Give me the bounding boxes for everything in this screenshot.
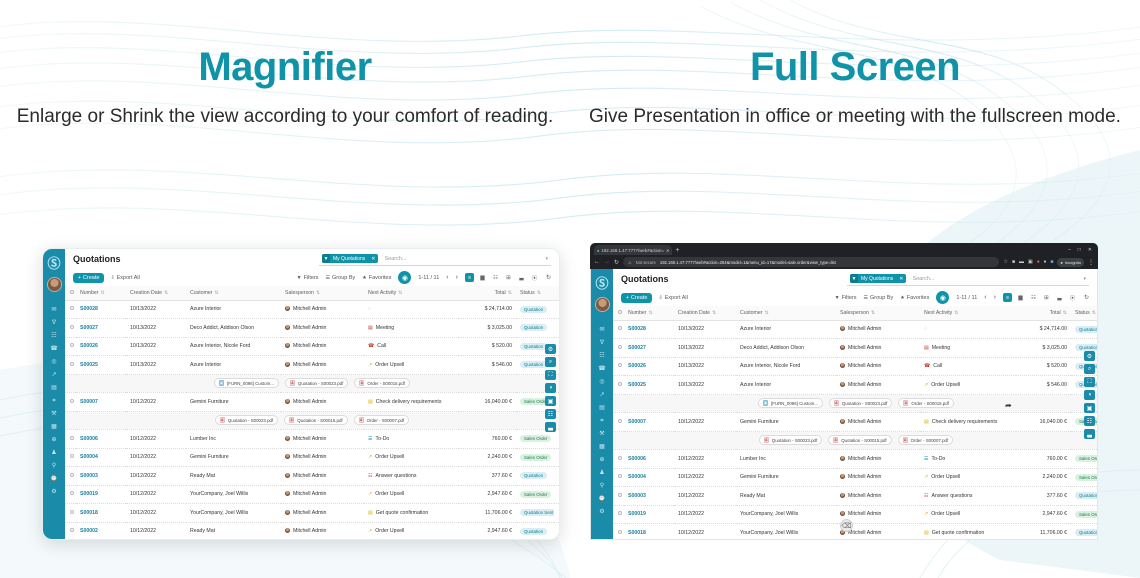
- extension-icon-6[interactable]: ■: [1050, 259, 1053, 265]
- cell-total: $ 546.00: [1016, 376, 1071, 395]
- forward-arrow-icon[interactable]: →: [604, 259, 610, 265]
- favorites-button[interactable]: ★ Favorites: [900, 295, 929, 301]
- cell-next-activity[interactable]: ☎Call: [920, 357, 1016, 376]
- row-select-cell[interactable]: [613, 487, 624, 506]
- table-row[interactable]: S0001810/12/2022YourCompany, Joel Willis…: [613, 524, 1097, 540]
- rail-theme-icon[interactable]: ◑: [545, 383, 556, 393]
- calendar-icon[interactable]: ☷: [50, 332, 59, 339]
- row-select-cell[interactable]: [613, 376, 624, 395]
- cell-customer-value: Gemini Furniture: [190, 454, 229, 460]
- cell-total: 760.00 €: [1016, 450, 1071, 469]
- row-checkbox[interactable]: [70, 399, 74, 403]
- column-header-creation-date[interactable]: Creation Date⇅: [674, 306, 736, 320]
- row-select-cell[interactable]: [65, 393, 76, 412]
- table-scroll-laptop[interactable]: Number⇅Creation Date⇅Customer⇅Salesperso…: [613, 306, 1097, 539]
- status-badge: Sales Order: [1075, 474, 1097, 481]
- row-select-cell[interactable]: [65, 430, 76, 449]
- cell-salesperson: Mitchell Admin: [281, 430, 364, 449]
- cell-next-activity[interactable]: ☷Answer questions: [364, 467, 459, 486]
- reload-icon[interactable]: ↻: [614, 259, 619, 266]
- manufacturing-icon[interactable]: ⚒: [50, 410, 59, 417]
- crm-icon[interactable]: ◎: [50, 358, 59, 365]
- select-all-checkbox[interactable]: [70, 290, 74, 294]
- pager-prev-button[interactable]: ‹: [984, 294, 986, 301]
- cell-next-activity[interactable]: ○: [364, 300, 459, 319]
- bookmark-star-icon[interactable]: ☆: [1003, 259, 1007, 265]
- column-header-customer[interactable]: Customer⇅: [736, 306, 836, 320]
- create-button[interactable]: + Create: [621, 293, 652, 303]
- row-checkbox[interactable]: [618, 530, 622, 534]
- row-checkbox[interactable]: [618, 345, 622, 349]
- row-select-cell[interactable]: [613, 505, 624, 524]
- window-close-button[interactable]: ✕: [1088, 247, 1092, 253]
- cell-next-activity[interactable]: ☰To-Do: [920, 450, 1016, 469]
- sort-indicator-icon[interactable]: ⇅: [1092, 310, 1096, 316]
- rail-magnifier-icon[interactable]: ⌕: [545, 357, 556, 367]
- sort-indicator-icon[interactable]: ⇅: [765, 310, 769, 316]
- attachment-chip[interactable]: AQuotation - S00023.pdf: [829, 398, 892, 408]
- table-row[interactable]: S0000710/12/2022Gemini FurnitureMitchell…: [65, 393, 559, 412]
- cell-next-activity[interactable]: ▤Get quote confirmation: [364, 504, 459, 523]
- filter-icon[interactable]: ∇: [50, 319, 59, 326]
- cell-total-value: $ 546.00: [1047, 382, 1067, 388]
- cell-next-activity[interactable]: ↗Order Upsell: [920, 376, 1016, 395]
- row-select-cell[interactable]: [65, 319, 76, 338]
- contacts-icon[interactable]: ☎: [598, 365, 607, 372]
- extension-icon-5[interactable]: ♦: [1044, 259, 1047, 265]
- export-all-button[interactable]: ⇩ Export All: [658, 295, 687, 301]
- row-checkbox[interactable]: [618, 456, 622, 460]
- discuss-icon[interactable]: ✉: [598, 326, 607, 333]
- row-select-cell[interactable]: [613, 468, 624, 487]
- refresh-icon[interactable]: ↻: [1084, 294, 1089, 301]
- contacts-icon[interactable]: ☎: [50, 345, 59, 352]
- rail-chart-icon[interactable]: ▃: [1084, 429, 1095, 439]
- cell-number-value: S00026: [80, 343, 98, 349]
- sort-indicator-icon[interactable]: ⇅: [215, 290, 219, 296]
- rail-chart-icon[interactable]: ▃: [545, 422, 556, 432]
- sort-indicator-icon[interactable]: ⇅: [648, 310, 652, 316]
- sort-indicator-icon[interactable]: ⇅: [871, 310, 875, 316]
- invoicing-icon[interactable]: ▤: [50, 384, 59, 391]
- activity-empty-icon: ○: [368, 306, 371, 312]
- search-input[interactable]: Search...: [384, 256, 545, 262]
- calendar-view-button[interactable]: ☷: [1029, 293, 1038, 302]
- row-checkbox[interactable]: [70, 343, 74, 347]
- user-avatar[interactable]: [47, 277, 62, 292]
- table-row[interactable]: S0002510/13/2022Azure InteriorMitchell A…: [613, 376, 1097, 395]
- cell-next-activity[interactable]: ↗Order Upsell: [364, 522, 459, 539]
- purchase-icon[interactable]: ▦: [598, 443, 607, 450]
- select-all-header[interactable]: [613, 306, 624, 320]
- search-facet-remove[interactable]: ✕: [368, 256, 378, 262]
- attachment-chip[interactable]: AQuotation - S00023.pdf: [759, 435, 822, 445]
- cell-next-activity[interactable]: ↗Order Upsell: [364, 485, 459, 504]
- pager-label: 1-11 / 11: [956, 295, 977, 301]
- attachment-chip[interactable]: AQuotation - S00015.pdf: [284, 415, 347, 425]
- table-row[interactable]: S0002510/13/2022Azure InteriorMitchell A…: [65, 356, 559, 375]
- rail-settings-icon[interactable]: ⚙: [1084, 351, 1095, 361]
- search-box[interactable]: ▼ My Quotations ✕ Search... ▾: [847, 273, 1089, 286]
- cell-next-activity[interactable]: ▤Check delivery requirements: [920, 413, 1016, 432]
- cell-spacer: [554, 430, 559, 449]
- purchase-icon[interactable]: ▦: [50, 423, 59, 430]
- row-select-cell[interactable]: [65, 300, 76, 319]
- search-facet-remove[interactable]: ✕: [896, 276, 906, 282]
- sort-indicator-icon[interactable]: ⇅: [316, 290, 320, 296]
- pager-next-button[interactable]: ›: [994, 294, 996, 301]
- attachment-chip[interactable]: AQuotation - S00015.pdf: [828, 435, 891, 445]
- salesperson-avatar: [285, 362, 290, 367]
- chevron-down-icon[interactable]: ▾: [545, 256, 548, 262]
- pdf-file-icon: A: [289, 417, 294, 423]
- row-checkbox[interactable]: [618, 363, 622, 367]
- cell-customer: Ready Mat: [736, 487, 836, 506]
- cell-status: Quotation: [516, 319, 554, 338]
- back-arrow-icon[interactable]: ←: [594, 259, 600, 265]
- cell-creation-date-value: 10/12/2022: [130, 473, 156, 479]
- column-header-next-activity[interactable]: Next Activity⇅: [920, 306, 1016, 320]
- row-checkbox[interactable]: [618, 493, 622, 497]
- calendar-view-button[interactable]: ☷: [491, 273, 500, 282]
- cell-status: Quotation Sent: [516, 504, 554, 523]
- column-header-salesperson[interactable]: Salesperson⇅: [281, 286, 364, 300]
- column-header-number[interactable]: Number⇅: [624, 306, 674, 320]
- rail-save-icon[interactable]: ▣: [1084, 403, 1095, 413]
- cell-customer-value: YourCompany, Joel Willis: [740, 511, 798, 517]
- sort-indicator-icon[interactable]: ⇅: [1063, 310, 1067, 316]
- sort-indicator-icon[interactable]: ⇅: [398, 290, 402, 296]
- create-button[interactable]: + Create: [73, 273, 104, 283]
- inventory-icon[interactable]: ⌗: [50, 397, 59, 404]
- table-row[interactable]: S0000610/12/2022Lumber IncMitchell Admin…: [613, 450, 1097, 469]
- cell-number: S00027: [624, 339, 674, 358]
- search-input[interactable]: Search...: [912, 276, 1083, 282]
- cell-total-value: 2,947.60 €: [487, 491, 512, 497]
- attachment-chip[interactable]: AOrder - S00015.pdf: [898, 398, 954, 408]
- cell-total-value: 16,040.00 €: [1040, 419, 1067, 425]
- employees-icon[interactable]: ♟: [598, 469, 607, 476]
- row-checkbox[interactable]: [618, 511, 622, 515]
- row-select-cell[interactable]: [65, 337, 76, 356]
- laptop-device-right: ● 192.168.1.47:7777/web#action= ✕ + – □ …: [590, 243, 1098, 540]
- cell-customer-value: Azure Interior: [190, 306, 221, 312]
- funnel-icon: ▼: [297, 275, 302, 281]
- group-by-button[interactable]: ☰ Group By: [326, 275, 356, 281]
- cell-number: S00004: [624, 468, 674, 487]
- column-header-total[interactable]: Total⇅: [1016, 306, 1071, 320]
- salesperson-avatar: [840, 474, 845, 479]
- sales-icon[interactable]: ↗: [50, 371, 59, 378]
- cell-number: S00006: [624, 450, 674, 469]
- row-checkbox[interactable]: [70, 491, 74, 495]
- rail-save-icon[interactable]: ▣: [545, 396, 556, 406]
- magnifier-icon[interactable]: ◉: [936, 291, 949, 304]
- search-box[interactable]: ▼ My Quotations ✕ Search... ▾: [319, 253, 551, 266]
- cell-next-activity[interactable]: ○: [920, 320, 1016, 339]
- table-row[interactable]: S0001910/12/2022YourCompany, Joel Willis…: [613, 505, 1097, 524]
- rail-theme-icon[interactable]: ◑: [1084, 390, 1095, 400]
- graph-view-button[interactable]: ▃: [1055, 293, 1064, 302]
- sort-indicator-icon[interactable]: ⇅: [537, 290, 541, 296]
- table-row[interactable]: S0002610/13/2022Azure Interior, Nicole F…: [613, 357, 1097, 376]
- app-sidebar-tablet: Ⓢ ✉∇☷☎◎↗▤⌗⚒▦⊕♟⚲⌚⚙: [43, 249, 65, 539]
- graph-view-button[interactable]: ▃: [517, 273, 526, 282]
- refresh-icon[interactable]: ↻: [546, 274, 551, 281]
- row-select-cell[interactable]: [65, 448, 76, 467]
- cell-next-activity[interactable]: ▤Check delivery requirements: [364, 393, 459, 412]
- row-checkbox[interactable]: [618, 474, 622, 478]
- table-row[interactable]: S0000210/12/2022Ready MatMitchell Admin↗…: [65, 522, 559, 539]
- manufacturing-icon[interactable]: ⚒: [598, 430, 607, 437]
- close-icon[interactable]: ✕: [666, 248, 669, 253]
- cell-creation-date-value: 10/13/2022: [130, 306, 156, 312]
- cell-next-activity[interactable]: ▤Meeting: [364, 319, 459, 338]
- invoicing-icon[interactable]: ▤: [598, 404, 607, 411]
- row-select-cell[interactable]: [65, 504, 76, 523]
- cell-next-activity[interactable]: ↗Order Upsell: [364, 356, 459, 375]
- calendar-icon[interactable]: ☷: [598, 352, 607, 359]
- cell-status: Quotation: [516, 300, 554, 319]
- website-icon[interactable]: ⊕: [50, 436, 59, 443]
- cell-total: 2,947.60 €: [459, 522, 516, 539]
- chevron-down-icon[interactable]: ▾: [1083, 276, 1086, 282]
- rail-fullscreen-icon[interactable]: ⛶: [545, 370, 556, 380]
- cell-next-activity-value: Order Upsell: [931, 511, 960, 517]
- group-by-button[interactable]: ☰ Group By: [864, 295, 894, 301]
- table-row[interactable]: S0000610/12/2022Lumber IncMitchell Admin…: [65, 430, 559, 449]
- salesperson-avatar: [285, 399, 290, 404]
- filter-icon[interactable]: ∇: [598, 339, 607, 346]
- column-header-customer[interactable]: Customer⇅: [186, 286, 281, 300]
- row-checkbox[interactable]: [70, 454, 74, 458]
- browser-tabstrip: ● 192.168.1.47:7777/web#action= ✕ + – □ …: [590, 243, 1098, 255]
- cell-total: 2,240.00 €: [1016, 468, 1071, 487]
- row-select-cell[interactable]: [65, 522, 76, 539]
- pdf-file-icon: A: [903, 437, 908, 443]
- sidebar-icon-list-laptop: ✉∇☷☎◎↗▤⌗⚒▦⊕♟⚲⌚⚙: [598, 326, 607, 515]
- rail-settings-icon[interactable]: ⚙: [545, 344, 556, 354]
- pivot-view-button[interactable]: ⊞: [1042, 293, 1051, 302]
- row-checkbox[interactable]: [618, 419, 622, 423]
- search-facet[interactable]: ▼ My Quotations ✕: [850, 274, 906, 283]
- table-row[interactable]: S0002610/13/2022Azure Interior, Nicole F…: [65, 337, 559, 356]
- user-avatar[interactable]: [595, 297, 610, 312]
- cell-next-activity[interactable]: ▤Get quote confirmation: [920, 524, 1016, 540]
- sort-indicator-icon[interactable]: ⇅: [508, 290, 512, 296]
- cell-total: 760.00 €: [459, 430, 516, 449]
- rail-list-icon[interactable]: ☷: [1084, 416, 1095, 426]
- activity-view-button[interactable]: ⦿: [1068, 293, 1077, 302]
- optional-columns-header[interactable]: [554, 286, 559, 300]
- activity-view-button[interactable]: ⦿: [530, 273, 539, 282]
- row-checkbox[interactable]: [70, 325, 74, 329]
- cell-next-activity[interactable]: ▤Meeting: [920, 339, 1016, 358]
- attachment-chip[interactable]: AOrder - S00007.pdf: [354, 415, 410, 425]
- cell-number-value: S00007: [628, 419, 646, 425]
- table-row[interactable]: S0002710/13/2022Deco Addict, Addison Ols…: [65, 319, 559, 338]
- status-badge: Sales Order: [520, 454, 551, 461]
- select-all-checkbox[interactable]: [618, 310, 622, 314]
- address-bar[interactable]: ⚠ Not secure 192.168.1.47:7777/web#actio…: [623, 257, 999, 267]
- window-minimize-button[interactable]: –: [1068, 247, 1071, 253]
- column-header-creation-date[interactable]: Creation Date⇅: [126, 286, 186, 300]
- rail-list-icon[interactable]: ☷: [545, 409, 556, 419]
- sort-indicator-icon[interactable]: ⇅: [100, 290, 104, 296]
- row-checkbox[interactable]: [618, 326, 622, 330]
- filters-button[interactable]: ▼ Filters: [835, 295, 857, 301]
- pivot-view-button[interactable]: ⊞: [504, 273, 513, 282]
- timesheet-icon[interactable]: ⌚: [50, 475, 59, 482]
- rail-magnifier-icon[interactable]: ⌕: [1084, 364, 1095, 374]
- quotations-table-tablet: Number⇅Creation Date⇅Customer⇅Salesperso…: [65, 286, 559, 539]
- sales-icon[interactable]: ↗: [598, 391, 607, 398]
- row-checkbox[interactable]: [70, 528, 74, 532]
- row-checkbox[interactable]: [70, 362, 74, 366]
- website-icon[interactable]: ⊕: [598, 456, 607, 463]
- table-row[interactable]: S0002710/13/2022Deco Addict, Addison Ols…: [613, 339, 1097, 358]
- filters-button[interactable]: ▼ Filters: [297, 275, 319, 281]
- column-header-total[interactable]: Total⇅: [459, 286, 516, 300]
- cell-next-activity-value: Order Upsell: [375, 491, 404, 497]
- row-select-cell[interactable]: [65, 467, 76, 486]
- cell-total-value: $ 520.00: [1047, 363, 1067, 369]
- attachment-chip[interactable]: ■[FURN_0096] Custom...: [758, 398, 823, 408]
- cell-next-activity[interactable]: ☷Answer questions: [920, 487, 1016, 506]
- favorites-button[interactable]: ★ Favorites: [362, 275, 391, 281]
- table-row[interactable]: S0000410/12/2022Gemini FurnitureMitchell…: [65, 448, 559, 467]
- create-button-label: Create: [631, 295, 648, 301]
- pager-prev-button[interactable]: ‹: [446, 274, 448, 281]
- cell-number-value: S00006: [80, 436, 98, 442]
- table-row[interactable]: S0001910/12/2022YourCompany, Joel Willis…: [65, 485, 559, 504]
- table-row[interactable]: S0001810/12/2022YourCompany, Joel Willis…: [65, 504, 559, 523]
- extension-icon-1[interactable]: ■: [1012, 259, 1015, 265]
- recruitment-icon[interactable]: ⚲: [50, 462, 59, 469]
- table-row[interactable]: S0000710/12/2022Gemini FurnitureMitchell…: [613, 413, 1097, 432]
- kanban-view-button[interactable]: ▆: [478, 273, 487, 282]
- table-row[interactable]: S0000310/12/2022Ready MatMitchell Admin☷…: [613, 487, 1097, 506]
- cell-creation-date-value: 10/13/2022: [678, 382, 704, 388]
- extension-icon-3[interactable]: ▣: [1028, 259, 1033, 265]
- table-scroll-tablet[interactable]: Number⇅Creation Date⇅Customer⇅Salesperso…: [65, 286, 559, 539]
- attachment-chip[interactable]: AOrder - S00015.pdf: [354, 378, 410, 388]
- row-select-cell[interactable]: [613, 524, 624, 540]
- table-row[interactable]: S0000410/12/2022Gemini FurnitureMitchell…: [613, 468, 1097, 487]
- attachment-chip[interactable]: AOrder - S00007.pdf: [898, 435, 954, 445]
- window-maximize-button[interactable]: □: [1078, 247, 1081, 253]
- row-select-cell[interactable]: [613, 357, 624, 376]
- discuss-icon[interactable]: ✉: [50, 306, 59, 313]
- recruitment-icon[interactable]: ⚲: [598, 482, 607, 489]
- pager-next-button[interactable]: ›: [456, 274, 458, 281]
- cell-next-activity[interactable]: ↗Order Upsell: [920, 468, 1016, 487]
- row-select-cell[interactable]: [65, 485, 76, 504]
- row-select-cell[interactable]: [613, 320, 624, 339]
- browser-tab[interactable]: ● 192.168.1.47:7777/web#action= ✕: [594, 245, 672, 255]
- column-header-status[interactable]: Status⇅: [516, 286, 554, 300]
- settings-icon[interactable]: ⚙: [598, 508, 607, 515]
- attachment-chip[interactable]: AQuotation - S00023.pdf: [215, 415, 278, 425]
- cell-next-activity[interactable]: ☰To-Do: [364, 430, 459, 449]
- row-checkbox[interactable]: [618, 382, 622, 386]
- cell-next-activity[interactable]: ☎Call: [364, 337, 459, 356]
- row-checkbox[interactable]: [70, 510, 74, 514]
- star-icon: ★: [362, 275, 366, 281]
- cell-salesperson: Mitchell Admin: [836, 413, 920, 432]
- page-title: Quotations: [73, 254, 121, 264]
- select-all-header[interactable]: [65, 286, 76, 300]
- row-select-cell[interactable]: [613, 339, 624, 358]
- salesperson-avatar: [285, 510, 290, 515]
- cell-status: Sales Order: [1071, 450, 1097, 469]
- kanban-view-button[interactable]: ▆: [1016, 293, 1025, 302]
- cell-customer-value: Azure Interior: [740, 326, 771, 332]
- sort-indicator-icon[interactable]: ⇅: [954, 310, 958, 316]
- sort-indicator-icon[interactable]: ⇅: [712, 310, 716, 316]
- hero-right-title: Full Screen: [570, 44, 1140, 90]
- incognito-badge[interactable]: ● Incognito: [1057, 258, 1084, 267]
- sort-indicator-icon[interactable]: ⇅: [164, 290, 168, 296]
- cell-number: S00007: [624, 413, 674, 432]
- cell-creation-date-value: 10/12/2022: [130, 510, 156, 516]
- odoo-logo-icon: Ⓢ: [595, 273, 608, 292]
- row-checkbox[interactable]: [70, 436, 74, 440]
- extension-icon-2[interactable]: ▬: [1019, 259, 1024, 265]
- column-header-label: Customer: [190, 290, 213, 296]
- employees-icon[interactable]: ♟: [50, 449, 59, 456]
- cell-creation-date: 10/12/2022: [674, 524, 736, 540]
- table-header-row: Number⇅Creation Date⇅Customer⇅Salesperso…: [613, 306, 1097, 320]
- column-header-number[interactable]: Number⇅: [76, 286, 126, 300]
- cell-next-activity[interactable]: ↗Order Upsell: [364, 448, 459, 467]
- table-row[interactable]: S0002810/13/2022Azure InteriorMitchell A…: [613, 320, 1097, 339]
- status-badge: Quotation: [520, 343, 547, 350]
- inventory-icon[interactable]: ⌗: [598, 417, 607, 424]
- row-checkbox[interactable]: [70, 306, 74, 310]
- row-select-cell[interactable]: [613, 413, 624, 432]
- browser-menu-icon[interactable]: ⋮: [1088, 259, 1094, 266]
- cell-customer: Gemini Furniture: [736, 468, 836, 487]
- row-select-cell[interactable]: [613, 450, 624, 469]
- column-header-status[interactable]: Status⇅: [1071, 306, 1097, 320]
- table-row[interactable]: S0000310/12/2022Ready MatMitchell Admin☷…: [65, 467, 559, 486]
- row-select-cell[interactable]: [65, 356, 76, 375]
- settings-icon[interactable]: ⚙: [50, 488, 59, 495]
- timesheet-icon[interactable]: ⌚: [598, 495, 607, 502]
- table-row[interactable]: S0002810/13/2022Azure InteriorMitchell A…: [65, 300, 559, 319]
- cell-next-activity[interactable]: ↗Order Upsell: [920, 505, 1016, 524]
- cell-customer: Ready Mat: [186, 522, 281, 539]
- list-view-button[interactable]: ≡: [1003, 293, 1012, 302]
- rail-fullscreen-icon[interactable]: ⛶: [1084, 377, 1095, 387]
- attachment-chip[interactable]: AQuotation - S00023.pdf: [285, 378, 348, 388]
- new-tab-button[interactable]: +: [675, 247, 679, 254]
- cell-salesperson-value: Mitchell Admin: [848, 511, 881, 517]
- search-facet[interactable]: ▼ My Quotations ✕: [322, 254, 378, 263]
- magnifier-icon[interactable]: ◉: [398, 271, 411, 284]
- row-checkbox[interactable]: [70, 473, 74, 477]
- collapse-fab-laptop[interactable]: ⌫: [840, 519, 853, 532]
- column-header-salesperson[interactable]: Salesperson⇅: [836, 306, 920, 320]
- column-header-next-activity[interactable]: Next Activity⇅: [364, 286, 459, 300]
- extension-icon-4[interactable]: ●: [1037, 259, 1040, 265]
- cell-number-value: S00018: [628, 530, 646, 536]
- export-all-button[interactable]: ⇩ Export All: [110, 275, 139, 281]
- attachment-chip[interactable]: ■[FURN_0096] Custom...: [214, 378, 279, 388]
- crm-icon[interactable]: ◎: [598, 378, 607, 385]
- list-view-button[interactable]: ≡: [465, 273, 474, 282]
